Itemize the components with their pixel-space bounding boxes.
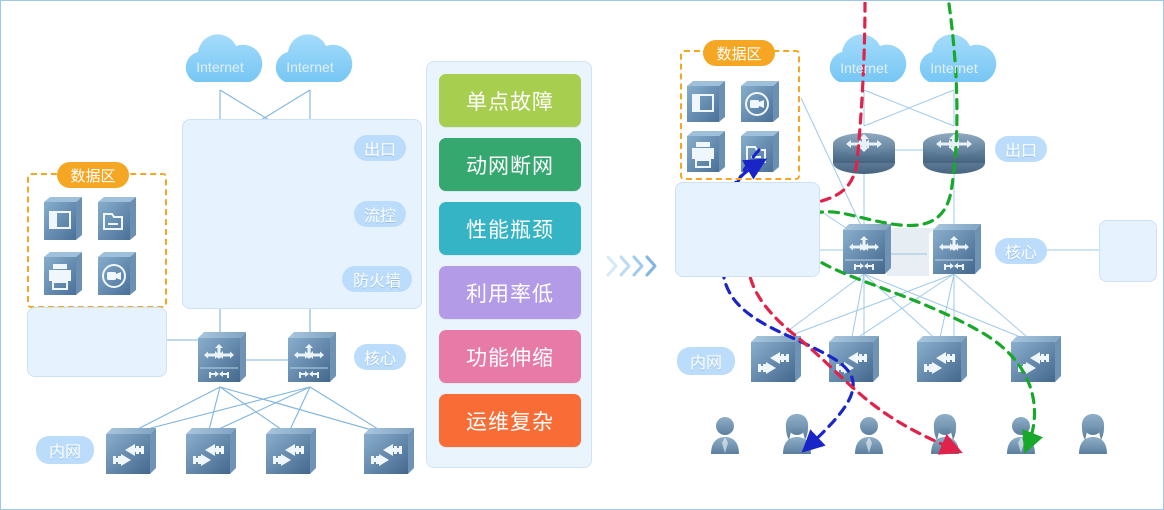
cloud-label-right-2: Internet: [922, 60, 986, 76]
core-switch-left-2: [288, 332, 336, 382]
right-tier-label-core: 核心: [995, 238, 1047, 264]
access-switch-right-3: [917, 336, 967, 382]
left-tier-label-flowcontrol: 流控: [354, 201, 406, 227]
user-6: [1079, 414, 1107, 454]
right-resource-pool-box: [675, 182, 820, 277]
router-right-1: [833, 133, 895, 174]
right-tier-label-egress: 出口: [995, 136, 1047, 162]
left-security-pool-box: [27, 307, 167, 377]
legacy-architecture-panel: ACE ACE: [2, 2, 420, 508]
right-data-zone-box: [680, 50, 800, 180]
transition-chevrons-icon: [605, 251, 661, 281]
core-switch-right-2: [933, 224, 981, 274]
issue-item-0[interactable]: 单点故障: [439, 74, 581, 127]
network-architecture-diagram: ACE ACE: [0, 0, 1164, 510]
left-intranet-label: 内网: [36, 436, 94, 464]
right-intranet-label: 内网: [677, 347, 735, 375]
user-3: [855, 417, 883, 454]
cloud-label-right-1: Internet: [832, 60, 896, 76]
issue-item-4[interactable]: 功能伸缩: [439, 330, 581, 383]
sdn-architecture-panel: SDN: [661, 2, 1163, 508]
issue-item-3[interactable]: 利用率低: [439, 266, 581, 319]
access-switch-right-1: [751, 336, 801, 382]
access-switch-left-3: [266, 428, 316, 474]
issue-item-1[interactable]: 动网断网: [439, 138, 581, 191]
cloud-label-left-1: Internet: [188, 59, 252, 75]
left-data-zone-box: [27, 173, 167, 308]
sdn-controller-box: [1099, 220, 1157, 282]
user-1: [711, 417, 739, 454]
right-data-zone-badge: 数据区: [703, 40, 775, 66]
issue-label: 单点故障: [466, 86, 554, 116]
user-4: [931, 414, 959, 454]
core-switch-left-1: [198, 332, 246, 382]
issue-item-5[interactable]: 运维复杂: [439, 394, 581, 447]
left-tier-label-egress: 出口: [354, 135, 406, 161]
issue-label: 性能瓶颈: [466, 214, 554, 244]
left-tier-label-firewall: 防火墙: [342, 266, 412, 292]
user-group: [711, 414, 1107, 454]
issue-label: 功能伸缩: [466, 342, 554, 372]
access-switch-left-4: [364, 428, 414, 474]
left-tier-label-core: 核心: [354, 344, 406, 370]
issue-label: 利用率低: [466, 278, 554, 308]
ghost-core-switch: [887, 228, 935, 276]
access-switch-right-4: [1011, 336, 1061, 382]
user-2: [783, 414, 811, 454]
access-switch-left-2: [186, 428, 236, 474]
cloud-label-left-2: Internet: [278, 59, 342, 75]
left-data-zone-badge: 数据区: [57, 162, 129, 188]
issue-item-2[interactable]: 性能瓶颈: [439, 202, 581, 255]
issue-label: 动网断网: [466, 150, 554, 180]
issue-label: 运维复杂: [466, 406, 554, 436]
core-switch-right-1: [843, 224, 891, 274]
issues-panel: 单点故障 动网断网 性能瓶颈 利用率低 功能伸缩 运维复杂: [426, 61, 592, 468]
access-switch-left-1: [106, 428, 156, 474]
